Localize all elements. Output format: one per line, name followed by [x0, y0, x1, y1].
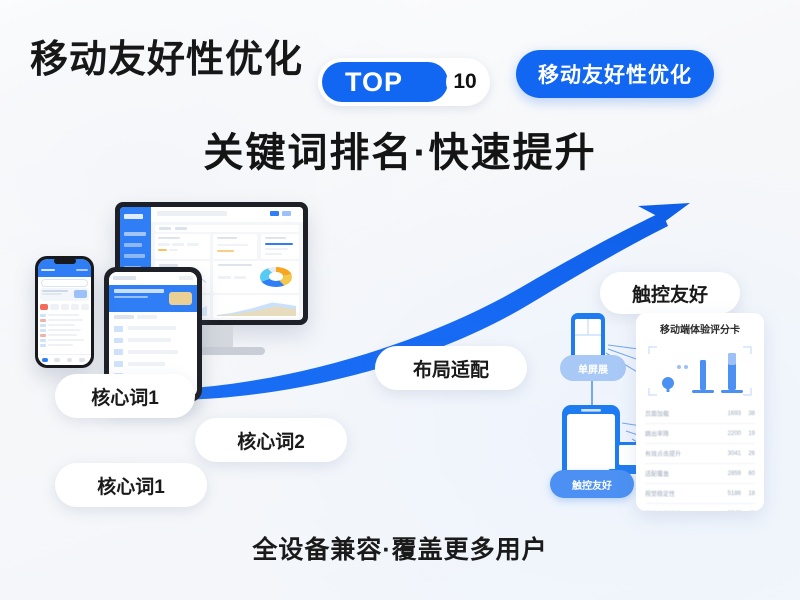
- row-name: 页面加载: [645, 409, 715, 418]
- score-card-rows: 页面加载 1693 38 跳出率降 2200 19 有效点击提升 3041 26…: [645, 404, 755, 511]
- mobile-experience-diagram: 单屏展 触控友好 移动端体验评分卡: [548, 305, 773, 520]
- table-row: 视觉稳定性 5186 18: [645, 484, 755, 504]
- row-name: 触控体验评分: [645, 509, 715, 511]
- pill-keyword-1[interactable]: 核心词1: [55, 374, 195, 418]
- arrow-head: [638, 203, 690, 234]
- row-name: 适配覆盖: [645, 469, 715, 478]
- row-value-1: 5186: [715, 491, 741, 497]
- row-value-2: 26: [741, 451, 755, 457]
- bar-chart: [646, 342, 754, 400]
- page-title: 移动友好性优化: [30, 28, 303, 83]
- diagram-label-touch-friendly: 触控友好: [550, 470, 634, 498]
- chart-bar-2: [700, 360, 706, 390]
- phone-notch: [54, 258, 76, 264]
- row-value-2: 41: [741, 511, 755, 512]
- table-row: 页面加载 1693 38: [645, 404, 755, 424]
- row-value-2: 38: [741, 411, 755, 417]
- score-card-chart: [646, 342, 754, 400]
- table-row: 触控体验评分 2249 41: [645, 504, 755, 511]
- row-value-1: 2859: [715, 471, 741, 477]
- row-value-1: 2249: [715, 511, 741, 512]
- corner-tag: 移动友好性优化: [516, 50, 714, 98]
- score-card: 移动端体验评分卡: [636, 313, 764, 511]
- diagram-label-single-screen: 单屏展: [560, 355, 626, 381]
- pill-layout-adaptation[interactable]: 布局适配: [375, 346, 527, 390]
- footer-caption: 全设备兼容·覆盖更多用户: [0, 530, 800, 566]
- poster-canvas: 移动友好性优化 TOP 10 移动友好性优化 关键词排名·快速提升: [0, 0, 800, 600]
- row-value-2: 18: [741, 491, 755, 497]
- phone-screen: [38, 259, 91, 365]
- top-badge-blue-pill: TOP: [322, 62, 448, 102]
- row-value-1: 3041: [715, 451, 741, 457]
- phone-mockup: [35, 256, 94, 368]
- row-name: 视觉稳定性: [645, 489, 715, 498]
- row-value-2: 60: [741, 471, 755, 477]
- row-value-1: 2200: [715, 431, 741, 437]
- row-value-1: 1693: [715, 411, 741, 417]
- pill-keyword-2[interactable]: 核心词2: [195, 418, 347, 462]
- pill-keyword-3[interactable]: 核心词1: [55, 463, 207, 507]
- score-card-title: 移动端体验评分卡: [636, 321, 764, 336]
- donut-chart-card: [213, 261, 299, 293]
- row-name: 有效点击提升: [645, 449, 715, 458]
- phone-search-bar: [41, 279, 88, 287]
- table-row: 有效点击提升 3041 26: [645, 444, 755, 464]
- row-name: 跳出率降: [645, 429, 715, 438]
- top-badge-number: 10: [446, 63, 484, 101]
- row-value-2: 19: [741, 431, 755, 437]
- top-rank-badge: TOP 10: [318, 58, 490, 106]
- top-badge-word: TOP: [345, 67, 403, 98]
- table-row: 适配覆盖 2859 60: [645, 464, 755, 484]
- table-row: 跳出率降 2200 19: [645, 424, 755, 444]
- page-subtitle: 关键词排名·快速提升: [0, 120, 800, 178]
- dashboard-topbar: [151, 207, 303, 222]
